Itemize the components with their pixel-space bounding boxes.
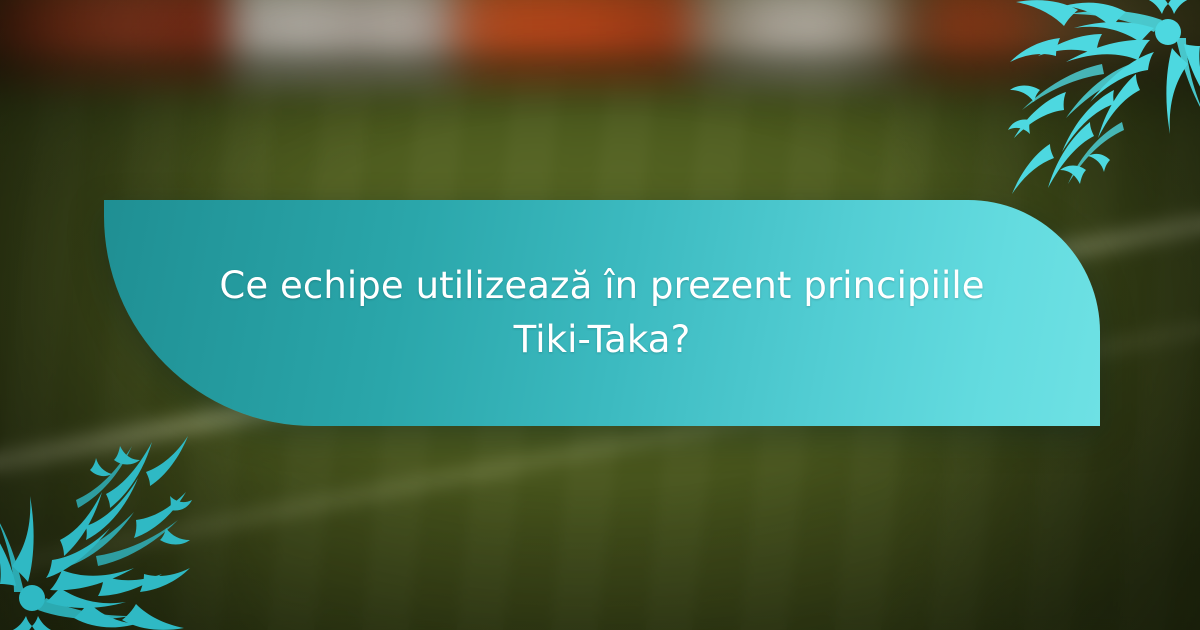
question-banner: Ce echipe utilizează în prezent principi… xyxy=(104,200,1100,426)
question-text: Ce echipe utilizează în prezent principi… xyxy=(182,259,1022,366)
question-card: Ce echipe utilizează în prezent principi… xyxy=(0,0,1200,630)
